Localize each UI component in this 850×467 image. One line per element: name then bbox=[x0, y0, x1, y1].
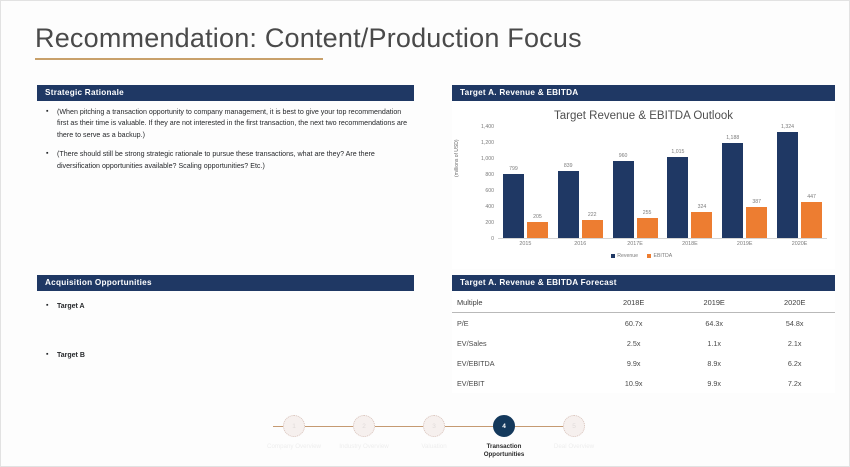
bar-value-label: 387 bbox=[752, 199, 761, 205]
stepper-circle-icon[interactable]: 3 bbox=[423, 415, 445, 437]
table-cell-value: 54.8x bbox=[754, 313, 835, 334]
table-cell-value: 8.9x bbox=[674, 353, 755, 373]
forecast-table: Multiple2018E2019E2020E P/E60.7x64.3x54.… bbox=[452, 291, 835, 393]
stepper-step-2[interactable]: 2Industry Overview bbox=[329, 415, 399, 460]
chart-title: Target Revenue & EBITDA Outlook bbox=[452, 110, 835, 122]
bar-ebitda: 447 bbox=[801, 127, 822, 238]
bar-value-label: 1,188 bbox=[726, 135, 739, 141]
table-column-header: 2019E bbox=[674, 291, 755, 313]
bar-value-label: 222 bbox=[588, 212, 597, 218]
x-axis-tick-label: 2018E bbox=[662, 241, 717, 247]
list-item: ▪ (When pitching a transaction opportuni… bbox=[43, 107, 412, 141]
bar-revenue: 839 bbox=[558, 127, 579, 238]
y-axis-title: (millions of USD) bbox=[454, 139, 460, 177]
bar-revenue: 1,324 bbox=[777, 127, 798, 238]
bullet-text: (When pitching a transaction opportunity… bbox=[57, 107, 412, 141]
panel-revenue-ebitda-forecast: Target A. Revenue & EBITDA Forecast Mult… bbox=[452, 275, 835, 393]
stepper-step-1[interactable]: 1Company Overview bbox=[259, 415, 329, 460]
x-axis-tick-label: 2019E bbox=[717, 241, 772, 247]
table-column-header: Multiple bbox=[452, 291, 593, 313]
y-axis-tick-label: 1,000 bbox=[481, 156, 494, 162]
bar-value-label: 205 bbox=[533, 214, 542, 220]
bar bbox=[722, 143, 743, 238]
bullet-text: Target A bbox=[57, 301, 412, 312]
panel-header-acquisition-opportunities: Acquisition Opportunities bbox=[37, 275, 414, 291]
bar bbox=[777, 132, 798, 238]
bullet-dot-icon: ▪ bbox=[43, 301, 57, 312]
stepper-step-4[interactable]: 4Transaction Opportunities bbox=[469, 415, 539, 460]
table-row: EV/EBIT10.9x9.9x7.2x bbox=[452, 373, 835, 393]
bar-ebitda: 387 bbox=[746, 127, 767, 238]
bar bbox=[801, 202, 822, 238]
table-cell-label: EV/EBIT bbox=[452, 373, 593, 393]
list-item: ▪ Target A bbox=[43, 301, 412, 312]
bar-group: 1,324447 bbox=[772, 127, 827, 238]
panel-strategic-rationale: Strategic Rationale ▪ (When pitching a t… bbox=[37, 85, 414, 180]
legend-swatch-icon bbox=[647, 254, 651, 258]
bar-value-label: 799 bbox=[509, 166, 518, 172]
bullet-dot-icon: ▪ bbox=[43, 107, 57, 141]
bar-ebitda: 324 bbox=[691, 127, 712, 238]
table-cell-value: 10.9x bbox=[593, 373, 674, 393]
y-axis-tick-label: 600 bbox=[485, 188, 494, 194]
bar-revenue: 960 bbox=[613, 127, 634, 238]
bullet-text: Target B bbox=[57, 350, 412, 361]
stepper-step-label: Deal Overview bbox=[539, 443, 609, 451]
table-cell-value: 6.2x bbox=[754, 353, 835, 373]
stepper-circle-icon[interactable]: 4 bbox=[493, 415, 515, 437]
y-axis-tick-label: 0 bbox=[491, 236, 494, 242]
table-row: P/E60.7x64.3x54.8x bbox=[452, 313, 835, 334]
bar bbox=[558, 171, 579, 238]
bar-value-label: 1,015 bbox=[671, 149, 684, 155]
table-row: EV/Sales2.5x1.1x2.1x bbox=[452, 333, 835, 353]
table-cell-label: P/E bbox=[452, 313, 593, 334]
strategic-rationale-bullet-list: ▪ (When pitching a transaction opportuni… bbox=[37, 101, 414, 172]
bar bbox=[527, 222, 548, 238]
table-cell-label: EV/EBITDA bbox=[452, 353, 593, 373]
bar-revenue: 1,188 bbox=[722, 127, 743, 238]
x-axis-tick-label: 2015 bbox=[498, 241, 553, 247]
bar-ebitda: 205 bbox=[527, 127, 548, 238]
bullet-dot-icon: ▪ bbox=[43, 350, 57, 361]
list-item: ▪ (There should still be strong strategi… bbox=[43, 149, 412, 172]
y-axis-tick-label: 1,200 bbox=[481, 140, 494, 146]
list-item: ▪ Target B bbox=[43, 350, 412, 361]
stepper-circle-icon[interactable]: 1 bbox=[283, 415, 305, 437]
bar-value-label: 255 bbox=[643, 210, 652, 216]
stepper-step-5[interactable]: 5Deal Overview bbox=[539, 415, 609, 460]
bar-value-label: 324 bbox=[698, 204, 707, 210]
bar-ebitda: 222 bbox=[582, 127, 603, 238]
bar-revenue: 1,015 bbox=[667, 127, 688, 238]
y-axis-ticks: 02004006008001,0001,2001,400 bbox=[462, 127, 494, 239]
table-cell-label: EV/Sales bbox=[452, 333, 593, 353]
panel-header-forecast: Target A. Revenue & EBITDA Forecast bbox=[452, 275, 835, 291]
y-axis-tick-label: 800 bbox=[485, 172, 494, 178]
table-cell-value: 9.9x bbox=[674, 373, 755, 393]
x-axis-tick-label: 2020E bbox=[772, 241, 827, 247]
panel-revenue-ebitda-chart: Target A. Revenue & EBITDA Target Revenu… bbox=[452, 85, 835, 269]
chart-bars: 7992058392229602551,0153241,1883871,3244… bbox=[498, 127, 827, 239]
table-cell-value: 2.5x bbox=[593, 333, 674, 353]
bar-ebitda: 255 bbox=[637, 127, 658, 238]
x-axis-ticks: 201520162017E2018E2019E2020E bbox=[498, 241, 827, 247]
chart-legend: RevenueEBITDA bbox=[452, 253, 831, 259]
table-cell-value: 60.7x bbox=[593, 313, 674, 334]
stepper-step-3[interactable]: 3Valuation bbox=[399, 415, 469, 460]
title-accent-rule bbox=[35, 58, 323, 60]
stepper-step-label: Industry Overview bbox=[329, 443, 399, 451]
slide-canvas: Recommendation: Content/Production Focus… bbox=[0, 0, 850, 467]
table-cell-value: 1.1x bbox=[674, 333, 755, 353]
legend-item: Revenue bbox=[611, 253, 638, 259]
bar bbox=[582, 220, 603, 238]
stepper-step-label: Valuation bbox=[399, 443, 469, 451]
bullet-text: (There should still be strong strategic … bbox=[57, 149, 412, 172]
chart-plot-region: (millions of USD) 02004006008001,0001,20… bbox=[452, 127, 831, 269]
stepper-step-label: Transaction Opportunities bbox=[469, 443, 539, 460]
table-cell-value: 7.2x bbox=[754, 373, 835, 393]
bar bbox=[691, 212, 712, 238]
page-title: Recommendation: Content/Production Focus bbox=[35, 23, 582, 54]
bar bbox=[613, 161, 634, 238]
bar bbox=[637, 218, 658, 238]
stepper-circle-icon[interactable]: 5 bbox=[563, 415, 585, 437]
table-header-row: Multiple2018E2019E2020E bbox=[452, 291, 835, 313]
bar-chart: Target Revenue & EBITDA Outlook (million… bbox=[452, 101, 835, 269]
table-body: P/E60.7x64.3x54.8xEV/Sales2.5x1.1x2.1xEV… bbox=[452, 313, 835, 394]
panel-header-strategic-rationale: Strategic Rationale bbox=[37, 85, 414, 101]
bar-value-label: 960 bbox=[619, 153, 628, 159]
table-column-header: 2020E bbox=[754, 291, 835, 313]
bar bbox=[667, 157, 688, 238]
table-cell-value: 9.9x bbox=[593, 353, 674, 373]
table-cell-value: 2.1x bbox=[754, 333, 835, 353]
panel-acquisition-opportunities: Acquisition Opportunities ▪ Target A ▪ T… bbox=[37, 275, 414, 400]
bar-group: 1,188387 bbox=[717, 127, 772, 238]
bullet-dot-icon: ▪ bbox=[43, 149, 57, 172]
bar-value-label: 1,324 bbox=[781, 124, 794, 130]
bar bbox=[503, 174, 524, 238]
y-axis-tick-label: 400 bbox=[485, 204, 494, 210]
bar-group: 960255 bbox=[608, 127, 663, 238]
title-block: Recommendation: Content/Production Focus bbox=[35, 23, 582, 60]
bar bbox=[746, 207, 767, 238]
legend-label: Revenue bbox=[617, 253, 638, 259]
bar-value-label: 447 bbox=[807, 194, 816, 200]
panel-header-revenue-ebitda: Target A. Revenue & EBITDA bbox=[452, 85, 835, 101]
bar-value-label: 839 bbox=[564, 163, 573, 169]
bar-revenue: 799 bbox=[503, 127, 524, 238]
table-row: EV/EBITDA9.9x8.9x6.2x bbox=[452, 353, 835, 373]
acquisition-bullet-list: ▪ Target A ▪ Target B bbox=[37, 291, 414, 362]
bar-group: 1,015324 bbox=[662, 127, 717, 238]
legend-item: EBITDA bbox=[647, 253, 672, 259]
x-axis-tick-label: 2017E bbox=[608, 241, 663, 247]
table-column-header: 2018E bbox=[593, 291, 674, 313]
legend-label: EBITDA bbox=[654, 253, 673, 259]
section-progress-stepper: 1Company Overview2Industry Overview3Valu… bbox=[259, 415, 591, 463]
stepper-steps: 1Company Overview2Industry Overview3Valu… bbox=[259, 415, 591, 460]
table-cell-value: 64.3x bbox=[674, 313, 755, 334]
bar-group: 839222 bbox=[553, 127, 608, 238]
bar-group: 799205 bbox=[498, 127, 553, 238]
stepper-circle-icon[interactable]: 2 bbox=[353, 415, 375, 437]
y-axis-tick-label: 1,400 bbox=[481, 124, 494, 130]
legend-swatch-icon bbox=[611, 254, 615, 258]
x-axis-tick-label: 2016 bbox=[553, 241, 608, 247]
y-axis-tick-label: 200 bbox=[485, 220, 494, 226]
stepper-step-label: Company Overview bbox=[259, 443, 329, 451]
